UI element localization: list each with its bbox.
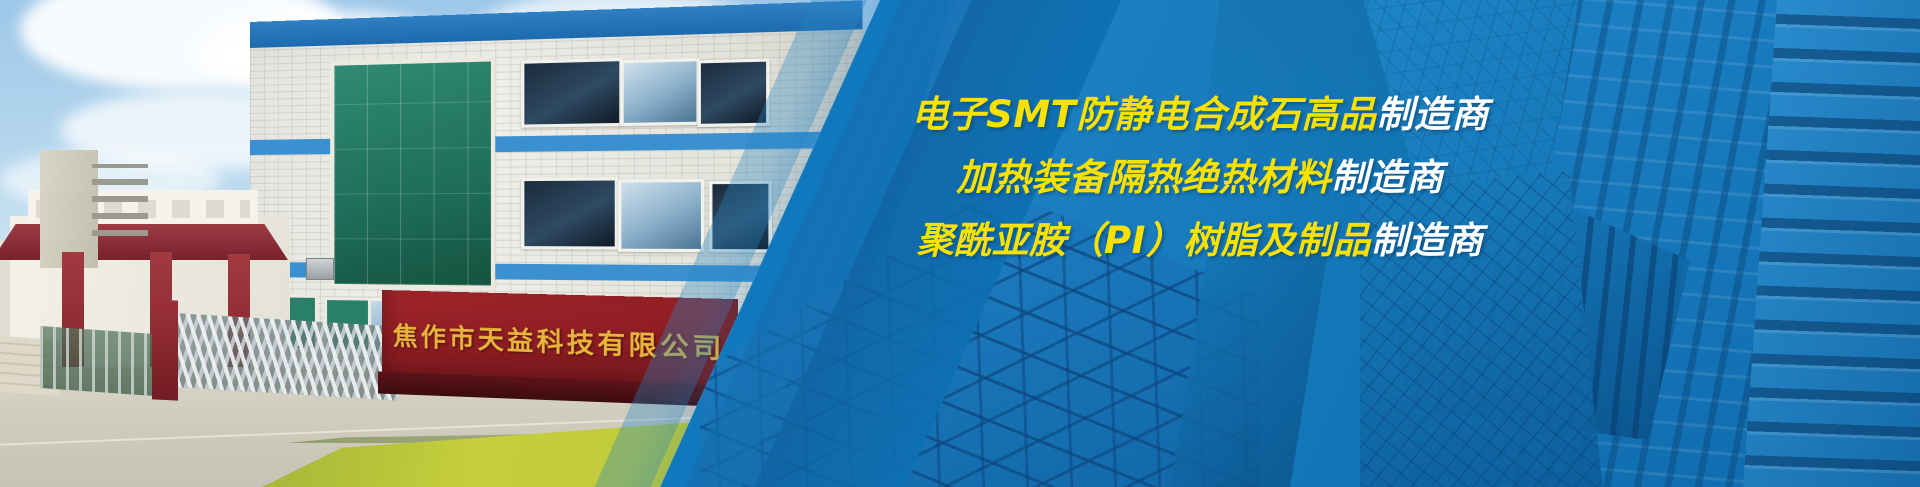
headline-3-highlight: 聚酰亚胺（PI）树脂及制品 [917,219,1371,262]
headline-group: 电子SMT防静电合成石高品制造商 加热装备隔热绝热材料制造商 聚酰亚胺（PI）树… [760,96,1640,259]
headline-line-1: 电子SMT防静电合成石高品制造商 [760,96,1640,133]
headline-2-highlight: 加热装备隔热绝热材料 [956,156,1331,199]
retractable-gate [178,313,398,400]
green-curtain-wall [330,57,495,290]
window [618,179,704,252]
headline-3-suffix: 制造商 [1371,219,1484,262]
stair-tower [40,150,98,268]
window [521,177,618,249]
gate-post [152,299,178,400]
fence-section [40,326,155,396]
promo-banner: 焦作市天益科技有限公司 电子SMT防静电合成石高品制造商 加热装备隔热绝热材料制… [0,0,1920,487]
headline-2-suffix: 制造商 [1331,156,1444,199]
headline-line-3: 聚酰亚胺（PI）树脂及制品制造商 [760,222,1640,259]
headline-line-2: 加热装备隔热绝热材料制造商 [760,159,1640,196]
window [620,58,699,126]
headline-1-suffix: 制造商 [1376,93,1489,136]
headline-1-highlight: 电子SMT防静电合成石高品 [911,93,1376,136]
window [521,58,622,128]
air-conditioner-unit [306,258,334,280]
